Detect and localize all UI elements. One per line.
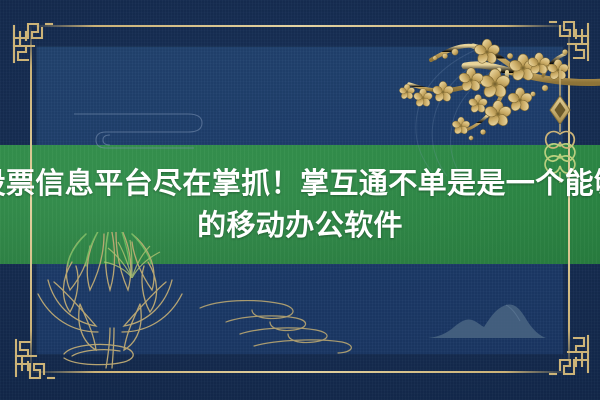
headline-line-1: 股票信息平台尽在掌抓！掌互通不单是是一个能够 (0, 162, 600, 204)
banner-image: 股票信息平台尽在掌抓！掌互通不单是是一个能够 的移动办公软件 (0, 0, 600, 400)
water-ripple-icon (196, 300, 376, 358)
fret-corner-icon-top-left (8, 18, 56, 66)
headline-text: 股票信息平台尽在掌抓！掌互通不单是是一个能够 的移动办公软件 (0, 148, 600, 260)
fret-corner-icon-bottom-right (546, 332, 594, 380)
headline-line-2: 的移动办公软件 (197, 204, 403, 246)
mountain-silhouette-icon (428, 300, 546, 340)
